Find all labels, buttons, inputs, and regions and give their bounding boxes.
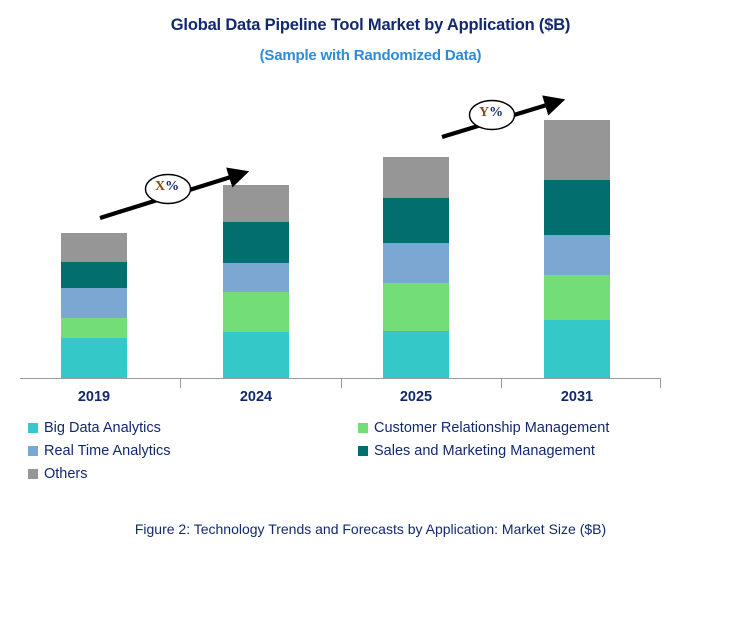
bar-segment[interactable]: [383, 283, 449, 331]
bar-segment[interactable]: [223, 332, 289, 378]
legend-item[interactable]: Real Time Analytics: [28, 441, 171, 460]
legend-swatch-icon: [358, 446, 368, 456]
legend-item-label: Others: [44, 466, 88, 482]
bar-segment[interactable]: [61, 262, 127, 288]
x-axis-label-1: 2024: [196, 389, 316, 405]
growth-callout-x: X%: [92, 160, 262, 230]
bar-segment[interactable]: [61, 233, 127, 262]
legend-swatch-icon: [28, 469, 38, 479]
legend-column-1: Big Data AnalyticsReal Time AnalyticsOth…: [28, 418, 171, 487]
growth-arrow-y-icon: [438, 92, 573, 150]
legend-column-2: Customer Relationship ManagementSales an…: [358, 418, 609, 464]
bar-segment[interactable]: [383, 157, 449, 198]
legend-swatch-icon: [28, 423, 38, 433]
bar-stack-2019[interactable]: [61, 233, 127, 378]
bar-segment[interactable]: [544, 180, 610, 235]
legend-item-label: Customer Relationship Management: [374, 420, 609, 436]
bar-segment[interactable]: [383, 243, 449, 283]
legend-swatch-icon: [28, 446, 38, 456]
growth-callout-x-letter: X: [155, 179, 165, 194]
bar-stack-2025[interactable]: [383, 157, 449, 378]
legend-item[interactable]: Sales and Marketing Management: [358, 441, 609, 460]
growth-callout-x-percent: %: [165, 179, 179, 194]
legend-item-label: Sales and Marketing Management: [374, 443, 595, 459]
plot-area: X% Y% 2019 2024 2025 2031: [0, 0, 741, 400]
bar-segment[interactable]: [544, 275, 610, 320]
axis-tick-3: [501, 378, 502, 388]
legend-item-label: Big Data Analytics: [44, 420, 161, 436]
bar-segment[interactable]: [544, 235, 610, 275]
x-axis-label-3: 2031: [517, 389, 637, 405]
axis-tick-1: [180, 378, 181, 388]
bar-segment[interactable]: [61, 338, 127, 378]
x-axis-label-0: 2019: [34, 389, 154, 405]
bar-segment[interactable]: [223, 292, 289, 332]
growth-callout-y-letter: Y: [479, 105, 489, 120]
growth-arrow-x-icon: [92, 160, 262, 230]
bar-segment[interactable]: [61, 318, 127, 338]
bar-segment[interactable]: [61, 288, 127, 318]
bar-segment[interactable]: [383, 331, 449, 378]
legend-item-label: Real Time Analytics: [44, 443, 171, 459]
bar-segment[interactable]: [223, 263, 289, 292]
growth-callout-y: Y%: [438, 92, 573, 150]
growth-callout-y-percent: %: [489, 105, 503, 120]
figure-caption: Figure 2: Technology Trends and Forecast…: [0, 521, 741, 537]
legend-item[interactable]: Customer Relationship Management: [358, 418, 609, 437]
bar-segment[interactable]: [383, 198, 449, 243]
bar-stack-2031[interactable]: [544, 120, 610, 378]
growth-callout-x-label: X%: [155, 179, 179, 195]
legend-swatch-icon: [358, 423, 368, 433]
bar-segment[interactable]: [544, 320, 610, 378]
axis-tick-4: [660, 378, 661, 388]
legend-item[interactable]: Others: [28, 464, 171, 483]
legend-item[interactable]: Big Data Analytics: [28, 418, 171, 437]
growth-callout-y-label: Y%: [479, 105, 503, 121]
x-axis-label-2: 2025: [356, 389, 476, 405]
axis-tick-2: [341, 378, 342, 388]
